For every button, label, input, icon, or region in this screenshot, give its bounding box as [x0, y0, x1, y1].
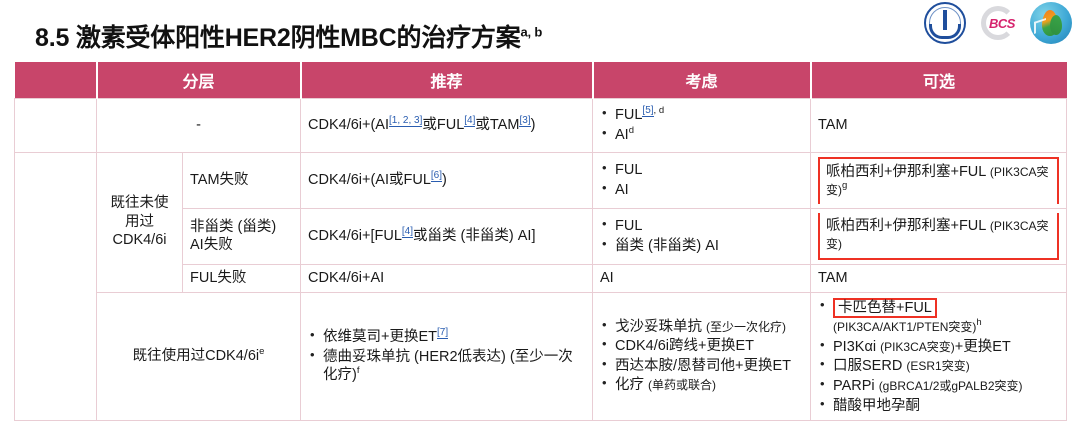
- cell-recommend: CDK4/6i+[FUL[4]或甾类 (非甾类) AI]: [301, 208, 593, 264]
- row-header-second-line: 二线及后线方案: [15, 152, 97, 421]
- consider-bullet-list: 戈沙妥珠单抗 (至少一次化疗)CDK4/6i跨线+更换ET西达本胺/恩替司他+更…: [600, 318, 803, 395]
- list-item: FUL[5], d: [600, 106, 803, 125]
- table-row: 既往使用过CDK4/6ie依维莫司+更换ET[7]德曲妥珠单抗 (HER2低表达…: [15, 292, 1067, 420]
- cell-stratification: FUL失败: [183, 264, 301, 292]
- page-title-superscript: a, b: [521, 25, 543, 40]
- option-bullet-list: 卡匹色替+FUL(PIK3CA/AKT1/PTEN突变)hPI3Kαi (PIK…: [818, 298, 1059, 415]
- column-header-stratification: 分层: [97, 62, 301, 98]
- page-title-text: 8.5 激素受体阳性HER2阴性MBC的治疗方案: [35, 24, 521, 52]
- list-item: 德曲妥珠单抗 (HER2低表达) (至少一次化疗)f: [308, 348, 585, 385]
- cell-stratification-group: 既往未使用过CDK4/6i: [97, 152, 183, 292]
- table-row: 一线c-CDK4/6i+(AI[1, 2, 3]或FUL[4]或TAM[3])F…: [15, 98, 1067, 152]
- recommend-bullet-list: 依维莫司+更换ET[7]德曲妥珠单抗 (HER2低表达) (至少一次化疗)f: [308, 328, 585, 385]
- table-header-row: 分层 推荐 考虑 可选: [15, 62, 1067, 98]
- list-item: 戈沙妥珠单抗 (至少一次化疗): [600, 318, 803, 337]
- bcsco-logo-swirl-inner: [1050, 15, 1062, 35]
- column-header-recommend: 推荐: [301, 62, 593, 98]
- list-item: PI3Kαi (PIK3CA突变)+更换ET: [818, 338, 1059, 357]
- table-body: 一线c-CDK4/6i+(AI[1, 2, 3]或FUL[4]或TAM[3])F…: [15, 98, 1067, 421]
- cell-optional: TAM: [811, 264, 1067, 292]
- list-item: AI: [600, 181, 803, 200]
- highlighted-option: 哌柏西利+伊那利塞+FUL (PIK3CA突变)g: [818, 157, 1059, 204]
- list-item: 卡匹色替+FUL(PIK3CA/AKT1/PTEN突变)h: [818, 298, 1059, 337]
- column-header-consider: 考虑: [593, 62, 811, 98]
- bcs-logo: BCS: [974, 2, 1022, 44]
- consider-bullet-list: FUL[5], dAId: [600, 106, 803, 144]
- cell-consider: AI: [593, 264, 811, 292]
- list-item: AId: [600, 126, 803, 145]
- table-row: 二线及后线方案既往未使用过CDK4/6iTAM失败CDK4/6i+(AI或FUL…: [15, 152, 1067, 208]
- list-item: 口服SERD (ESR1突变): [818, 357, 1059, 376]
- cell-stratification: -: [97, 98, 301, 152]
- cell-consider: FUL[5], dAId: [593, 98, 811, 152]
- csco-logo-ring: [929, 7, 961, 39]
- cell-consider: FULAI: [593, 152, 811, 208]
- logo-bar: BCS: [924, 2, 1072, 44]
- cell-stratification-used-cdk: 既往使用过CDK4/6ie: [97, 292, 301, 420]
- cell-recommend: CDK4/6i+AI: [301, 264, 593, 292]
- cell-recommend: CDK4/6i+(AI或FUL[6]): [301, 152, 593, 208]
- cell-recommend: 依维莫司+更换ET[7]德曲妥珠单抗 (HER2低表达) (至少一次化疗)f: [301, 292, 593, 420]
- cell-recommend: CDK4/6i+(AI[1, 2, 3]或FUL[4]或TAM[3]): [301, 98, 593, 152]
- cell-stratification: TAM失败: [183, 152, 301, 208]
- cell-optional: TAM: [811, 98, 1067, 152]
- column-header-optional: 可选: [811, 62, 1067, 98]
- list-item: PARPi (gBRCA1/2或gPALB2突变): [818, 377, 1059, 396]
- treatment-regimen-table: 分层 推荐 考虑 可选 一线c-CDK4/6i+(AI[1, 2, 3]或FUL…: [14, 62, 1067, 421]
- cell-consider: FUL甾类 (非甾类) AI: [593, 208, 811, 264]
- cell-optional: 哌柏西利+伊那利塞+FUL (PIK3CA突变): [811, 208, 1067, 264]
- page-title: 8.5 激素受体阳性HER2阴性MBC的治疗方案a, b: [35, 18, 542, 54]
- consider-bullet-list: FUL甾类 (非甾类) AI: [600, 217, 803, 255]
- consider-bullet-list: FULAI: [600, 161, 803, 199]
- list-item: 甾类 (非甾类) AI: [600, 237, 803, 256]
- bcsco-logo: [1030, 2, 1072, 44]
- list-item: FUL: [600, 217, 803, 236]
- list-item: 化疗 (单药或联合): [600, 376, 803, 395]
- list-item: FUL: [600, 161, 803, 180]
- row-header-first-line: 一线c: [15, 98, 97, 152]
- cell-consider: 戈沙妥珠单抗 (至少一次化疗)CDK4/6i跨线+更换ET西达本胺/恩替司他+更…: [593, 292, 811, 420]
- cell-optional: 哌柏西利+伊那利塞+FUL (PIK3CA突变)g: [811, 152, 1067, 208]
- column-header-line: [15, 62, 97, 98]
- list-item: 西达本胺/恩替司他+更换ET: [600, 357, 803, 376]
- slide-header: 8.5 激素受体阳性HER2阴性MBC的治疗方案a, b BCS: [0, 0, 1080, 62]
- highlighted-option: 哌柏西利+伊那利塞+FUL (PIK3CA突变): [818, 213, 1059, 260]
- cell-stratification: 非甾类 (甾类) AI失败: [183, 208, 301, 264]
- bcs-logo-text: BCS: [989, 16, 1015, 31]
- csco-logo: [924, 2, 966, 44]
- cell-optional: 卡匹色替+FUL(PIK3CA/AKT1/PTEN突变)hPI3Kαi (PIK…: [811, 292, 1067, 420]
- list-item: CDK4/6i跨线+更换ET: [600, 337, 803, 356]
- list-item: 依维莫司+更换ET[7]: [308, 328, 585, 347]
- list-item: 醋酸甲地孕酮: [818, 397, 1059, 416]
